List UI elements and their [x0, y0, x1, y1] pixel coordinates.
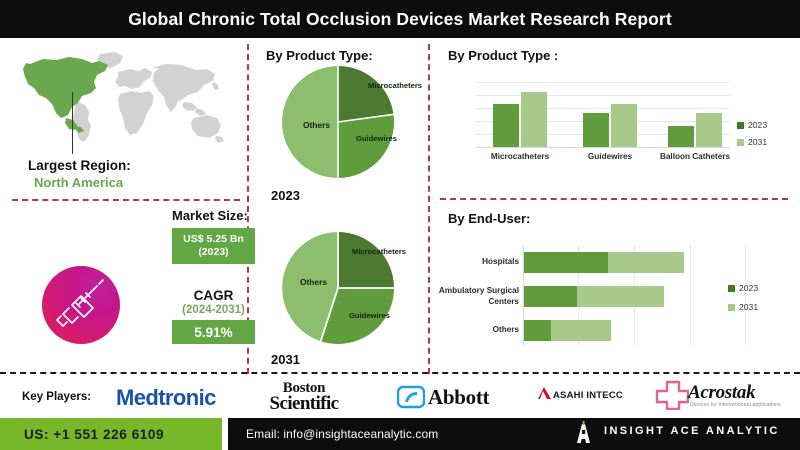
divider-horizontal-right: [440, 198, 788, 200]
world-map: [14, 46, 236, 158]
legend-swatch-2031-enduser: [728, 304, 735, 311]
footer-phone-bar: US: +1 551 226 6109: [0, 418, 222, 450]
insight-ace-a-mark-icon: [572, 421, 594, 445]
logo-boston-scientific-line2: Scientific: [238, 395, 370, 413]
pie-2031-year: 2031: [271, 352, 300, 367]
hbar-others-2023: [524, 320, 551, 341]
hbar-ylabel-others: Others: [435, 324, 519, 335]
header-bar-left-fill: [0, 0, 30, 38]
world-map-icon: [14, 46, 236, 158]
logo-acrostak-tagline: Devices for interventional applications: [690, 402, 781, 408]
bar-balloon-catheters-2031: [696, 113, 722, 147]
legend-swatch-2023-enduser: [728, 285, 735, 292]
logo-boston-scientific: Boston Scientific: [238, 381, 370, 413]
asahi-intecc-logo-icon: [538, 386, 554, 400]
gridline: [690, 245, 691, 345]
bar-xlabel-balloon-catheters: Balloon Catheters: [653, 152, 737, 161]
market-size-label: Market Size:: [172, 208, 248, 223]
hbar-ambulatory-2023: [524, 286, 577, 307]
cagr-period: (2024-2031): [167, 304, 260, 316]
pie-2023-label-guidewires: Guidewires: [356, 134, 397, 143]
infographic-page: Global Chronic Total Occlusion Devices M…: [0, 0, 800, 450]
legend-label-2031: 2031: [748, 137, 767, 147]
legend-swatch-2031: [737, 139, 744, 146]
bar-xlabel-guidewires: Guidewires: [568, 152, 652, 161]
divider-horizontal-players: [0, 372, 800, 374]
pie-section-title: By Product Type:: [266, 48, 373, 63]
hbar-ylabel-hospitals: Hospitals: [435, 256, 519, 267]
logo-acrostak: Acrostak: [688, 382, 755, 404]
footer-phone[interactable]: US: +1 551 226 6109: [24, 427, 164, 442]
pie-2031-label-guidewires: Guidewires: [349, 311, 390, 320]
gridline: [476, 82, 730, 83]
divider-vertical-right: [428, 44, 430, 374]
bar-microcatheters-2023: [493, 104, 519, 147]
divider-horizontal-left: [12, 199, 240, 201]
device-icon-badge: [42, 266, 120, 344]
market-size-value: US$ 5.25 Bn: [183, 233, 244, 246]
market-size-year: (2023): [198, 246, 228, 259]
pie-2023-year: 2023: [271, 188, 300, 203]
gridline: [745, 245, 746, 345]
header-bar-right-fill: [770, 0, 800, 38]
map-leader-line: [72, 92, 73, 154]
hbar-ylabel-ambulatory: Ambulatory Surgical Centers: [435, 285, 519, 307]
axis-line-x: [476, 147, 730, 148]
legend-label-2023: 2023: [748, 120, 767, 130]
gridline: [476, 95, 730, 96]
syringe-icon: [42, 266, 120, 344]
hbar-others-2031: [551, 320, 611, 341]
bar-guidewires-2023: [583, 113, 609, 147]
logo-asahi-intecc: ASAHI INTECC: [553, 390, 623, 401]
logo-medtronic: Medtronic: [116, 385, 216, 411]
pie-2023-label-others: Others: [303, 120, 330, 130]
cagr-label: CAGR: [172, 288, 255, 303]
key-players-label: Key Players:: [22, 391, 91, 403]
header-bar: Global Chronic Total Occlusion Devices M…: [28, 0, 772, 38]
bar-balloon-catheters-2023: [668, 126, 694, 147]
footer-brand: INSIGHT ACE ANALYTIC: [604, 425, 780, 437]
hbar-ambulatory-2031: [577, 286, 664, 307]
footer-email[interactable]: Email: info@insightaceanalytic.com: [246, 427, 438, 441]
abbott-logo-icon: [397, 385, 425, 409]
hbar-hospitals-2031: [608, 252, 684, 273]
bar-microcatheters-2031: [521, 92, 547, 147]
largest-region-value: North America: [34, 175, 123, 190]
cagr-value: 5.91%: [194, 325, 232, 340]
hbar-hospitals-2023: [524, 252, 608, 273]
legend-label-2031-enduser: 2031: [739, 302, 758, 312]
pie-2031-label-others: Others: [300, 277, 327, 287]
cagr-badge: 5.91%: [172, 320, 255, 344]
pie-2023-label-microcatheters: Microcatheters: [368, 81, 422, 90]
logo-abbott: Abbott: [428, 385, 489, 410]
bar-guidewires-2031: [611, 104, 637, 147]
enduser-chart-title: By End-User:: [448, 211, 530, 226]
legend-label-2023-enduser: 2023: [739, 283, 758, 293]
acrostak-cross-icon: [655, 380, 689, 410]
pie-2031-label-microcatheters: Microcatheters: [352, 247, 406, 256]
legend-swatch-2023: [737, 122, 744, 129]
bar-chart-title: By Product Type :: [448, 48, 558, 63]
market-size-badge: US$ 5.25 Bn (2023): [172, 228, 255, 264]
largest-region-label: Largest Region:: [28, 158, 131, 173]
bar-xlabel-microcatheters: Microcatheters: [478, 152, 562, 161]
page-title: Global Chronic Total Occlusion Devices M…: [128, 9, 672, 30]
